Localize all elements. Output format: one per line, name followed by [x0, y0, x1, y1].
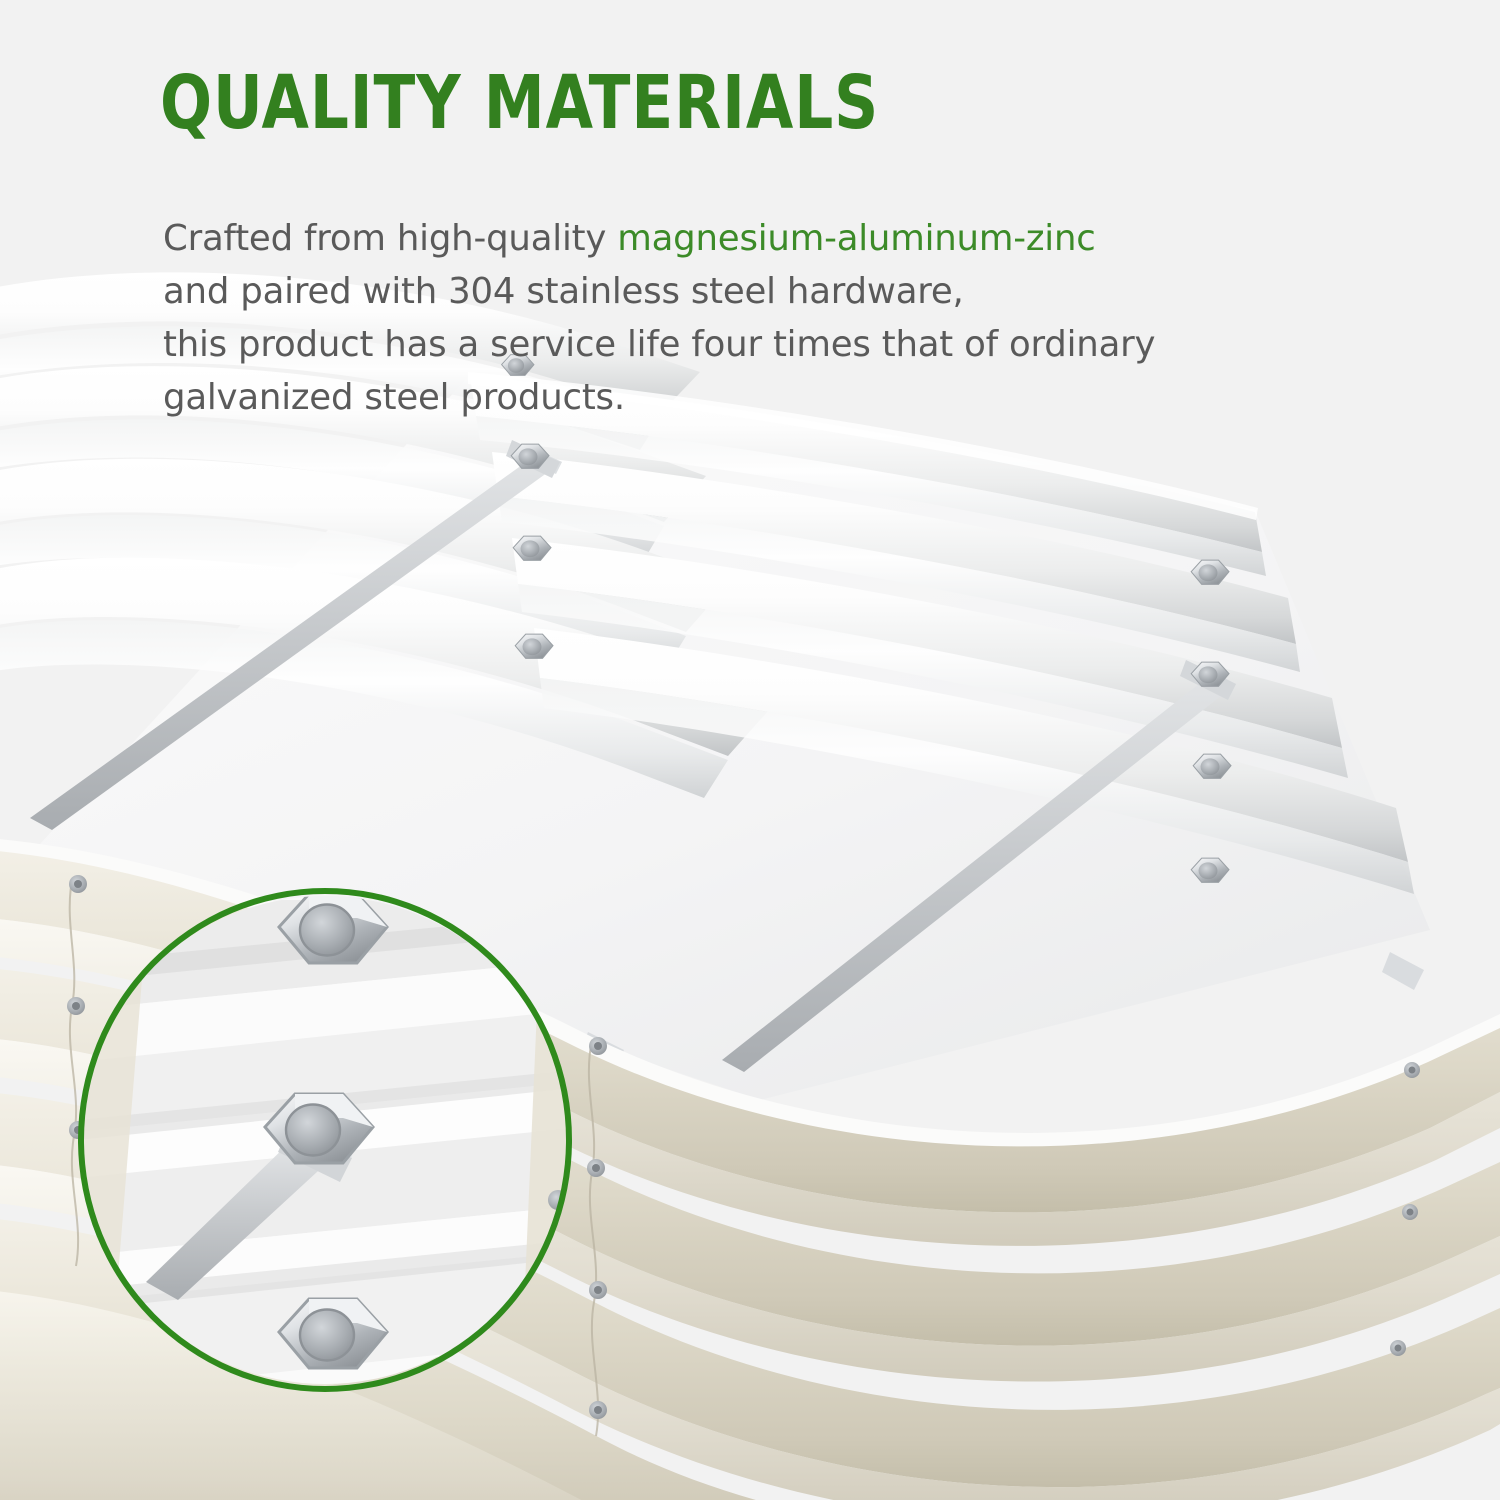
description-line-1-prefix: Crafted from high-quality: [163, 218, 617, 259]
description-line-4: galvanized steel products.: [163, 371, 1155, 424]
pan-head-screw: [589, 1281, 607, 1299]
brace-end-plate-right: [1382, 952, 1424, 990]
description-line-3: this product has a service life four tim…: [163, 318, 1155, 371]
pan-head-screw: [1390, 1340, 1406, 1356]
pan-head-screw: [589, 1401, 607, 1419]
description-paragraph: Crafted from high-quality magnesium-alum…: [163, 212, 1155, 424]
page-title: QUALITY MATERIALS: [160, 66, 879, 140]
description-line-1: Crafted from high-quality magnesium-alum…: [163, 212, 1155, 265]
pan-head-screw: [69, 875, 87, 893]
material-highlight: magnesium-aluminum-zinc: [617, 218, 1095, 259]
description-line-2: and paired with 304 stainless steel hard…: [163, 265, 1155, 318]
pan-head-screw: [67, 997, 85, 1015]
pan-head-screw: [1402, 1204, 1418, 1220]
pan-head-screw: [589, 1037, 607, 1055]
product-marketing-image: QUALITY MATERIALS Crafted from high-qual…: [0, 0, 1500, 1500]
pan-head-screw: [587, 1159, 605, 1177]
pan-head-screw: [1404, 1062, 1420, 1078]
